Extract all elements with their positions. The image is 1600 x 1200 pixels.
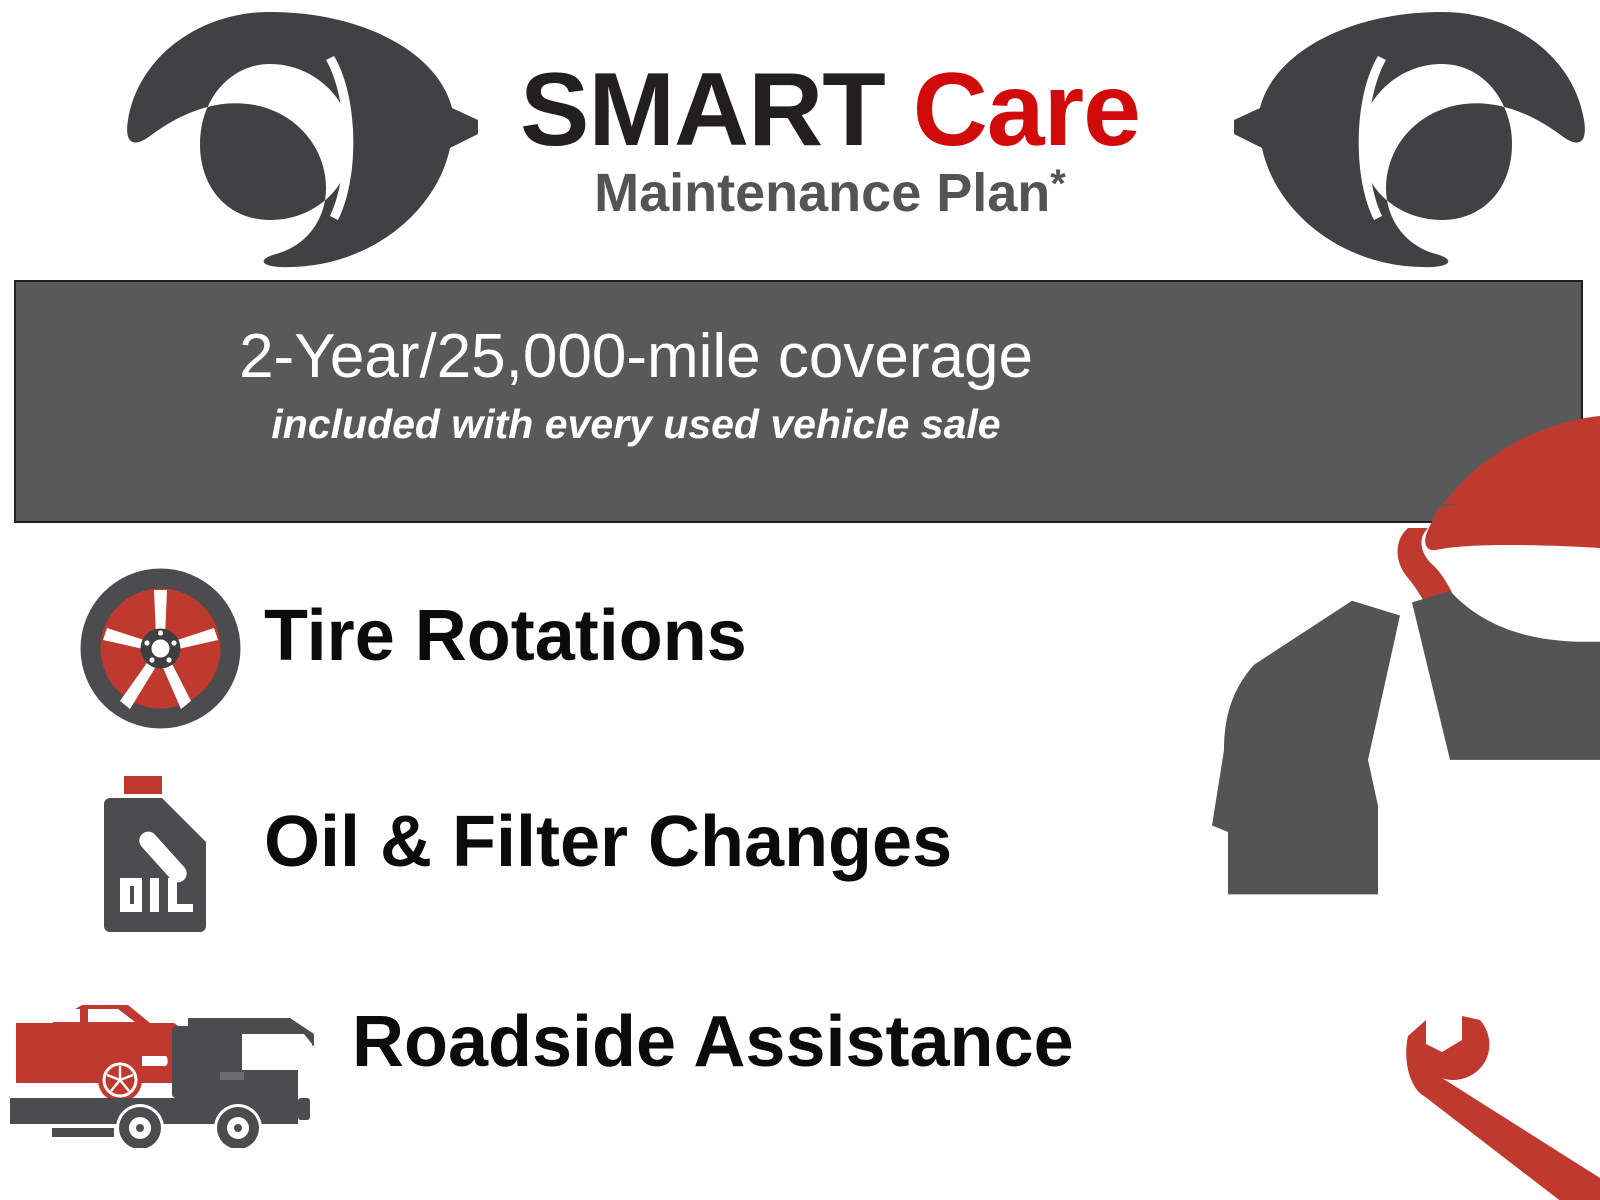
wrench-icon bbox=[1232, 8, 1592, 270]
feature-label: Tire Rotations bbox=[264, 600, 747, 672]
mechanic-with-wrench-illustration bbox=[1150, 400, 1600, 1200]
feature-label: Oil & Filter Changes bbox=[264, 806, 952, 878]
brand-subtitle-asterisk: * bbox=[1050, 162, 1066, 206]
wrench-icon bbox=[1406, 1016, 1600, 1200]
brand-name-line: SMART Care bbox=[420, 58, 1240, 162]
coverage-subline: included with every used vehicle sale bbox=[16, 403, 1256, 446]
smart-care-promo-poster: SMART Care Maintenance Plan* 2-Year/25,0… bbox=[0, 0, 1600, 1200]
tow-truck-icon bbox=[6, 978, 326, 1148]
coverage-banner-content: 2-Year/25,000-mile coverage included wit… bbox=[16, 282, 1256, 446]
brand-wordmark: SMART Care Maintenance Plan* bbox=[420, 58, 1240, 220]
oil-bottle-icon bbox=[98, 774, 218, 932]
feature-item: Oil & Filter Changes bbox=[0, 762, 1160, 952]
feature-label: Roadside Assistance bbox=[352, 1006, 1074, 1078]
brand-name-primary: SMART bbox=[520, 52, 885, 168]
brand-name-secondary: Care bbox=[913, 52, 1140, 168]
tire-icon bbox=[78, 566, 243, 731]
brand-subtitle-text: Maintenance Plan bbox=[594, 163, 1050, 223]
logo-header: SMART Care Maintenance Plan* bbox=[0, 0, 1600, 278]
coverage-headline: 2-Year/25,000-mile coverage bbox=[16, 324, 1256, 389]
brand-subtitle: Maintenance Plan* bbox=[420, 164, 1240, 220]
feature-item: Roadside Assistance bbox=[0, 960, 1160, 1150]
feature-item: Tire Rotations bbox=[0, 558, 1160, 748]
